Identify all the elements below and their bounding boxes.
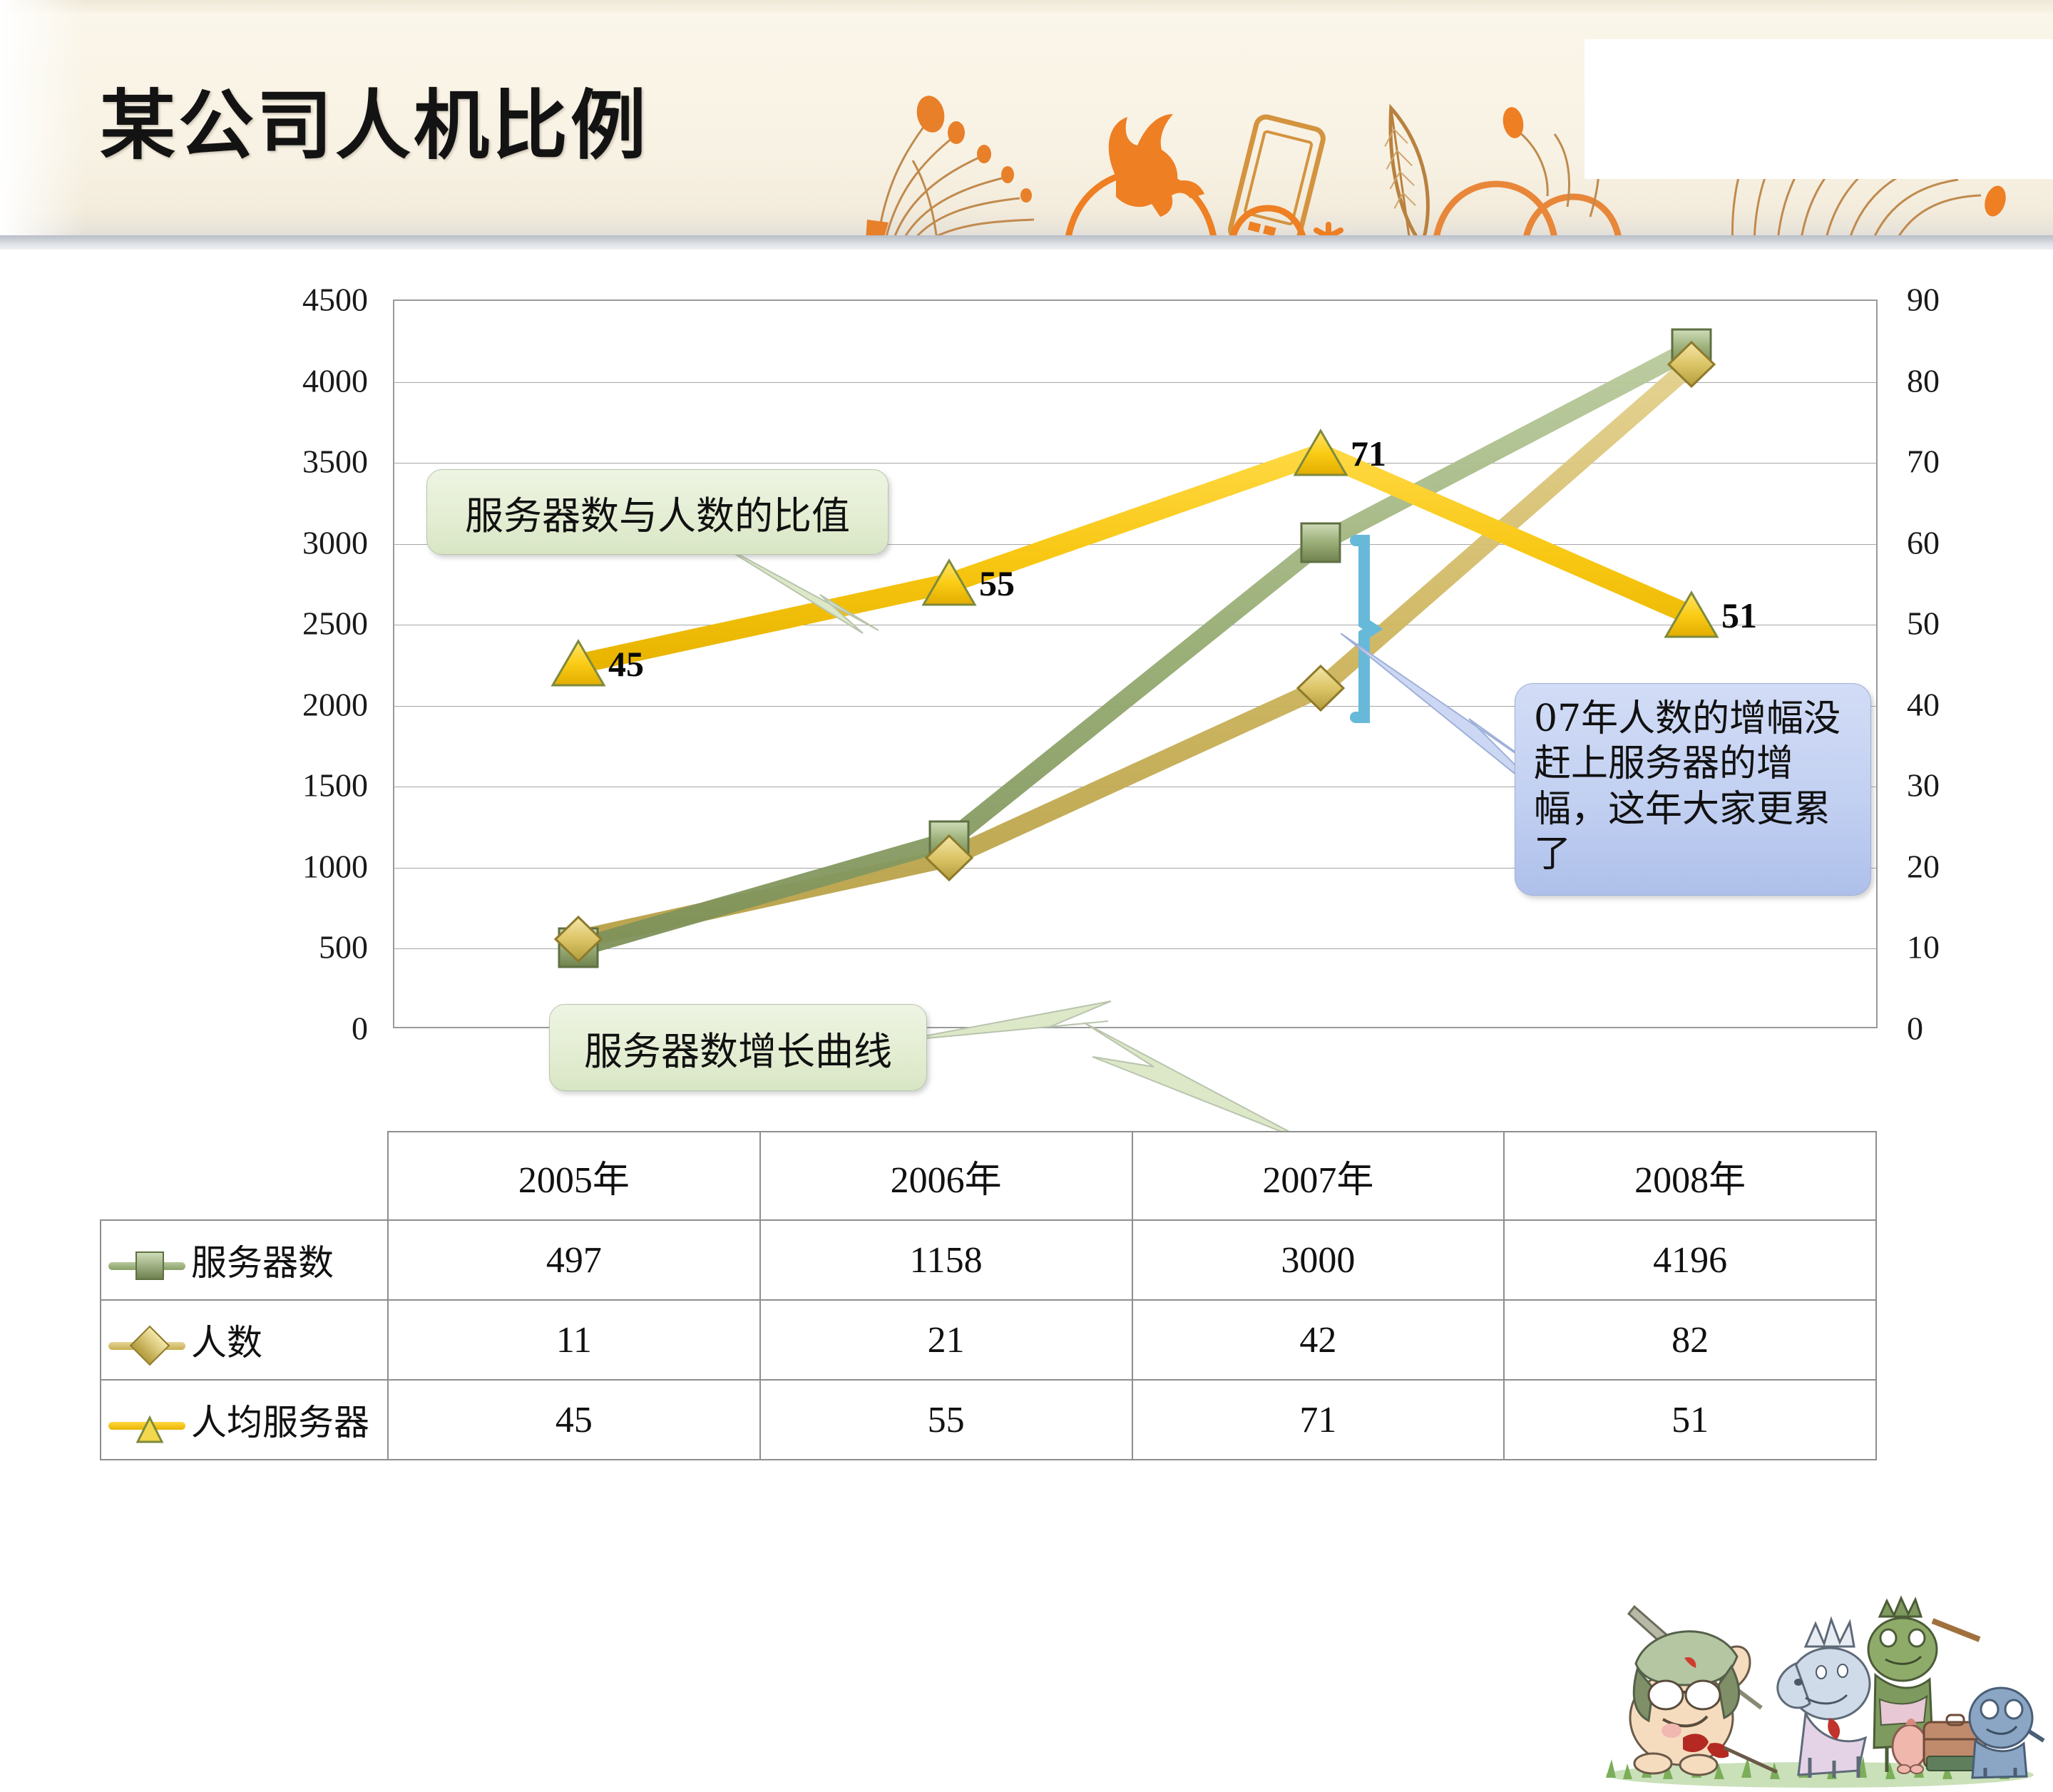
- legend-label-people: 人数: [191, 1322, 262, 1363]
- table-row-ratio: 人均服务器 45 55 71 51: [101, 1380, 1876, 1460]
- table-row-people: 人数 11 21 42 82: [101, 1300, 1876, 1380]
- legend-row-servers: 服务器数: [101, 1220, 388, 1300]
- data-label-ratio-2006: 55: [979, 563, 1015, 604]
- y-left-tick-4000: 4000: [302, 362, 368, 399]
- legend-label-servers: 服务器数: [191, 1242, 334, 1284]
- legend-row-ratio: 人均服务器: [101, 1380, 388, 1460]
- data-label-ratio-2008: 51: [1721, 595, 1757, 636]
- data-table: 2005年 2006年 2007年 2008年 服务器数 497 1158 30…: [100, 1131, 1877, 1460]
- y-left-tick-4500: 4500: [302, 281, 368, 319]
- y-right-tick-90: 90: [1907, 281, 1940, 319]
- page-title: 某公司人机比例: [100, 64, 649, 174]
- table-row-servers: 服务器数 497 1158 3000 4196: [101, 1220, 1876, 1300]
- y-left-tick-1500: 1500: [302, 767, 368, 804]
- y-left-tick-2000: 2000: [302, 685, 368, 723]
- table-header-row: 2005年 2006年 2007年 2008年: [101, 1132, 1876, 1220]
- header-top-strip: [0, 0, 2053, 13]
- y-left-tick-3000: 3000: [302, 523, 368, 561]
- table-col-header-2008: 2008年: [1504, 1132, 1876, 1220]
- legend-marker-square-icon: [108, 1250, 185, 1281]
- data-label-ratio-2005: 45: [608, 643, 644, 685]
- cartoon-characters-illustration: [1592, 1578, 2048, 1792]
- y-right-tick-0: 0: [1907, 1010, 1923, 1048]
- y-left-tick-500: 500: [319, 928, 368, 966]
- y-right-tick-70: 70: [1907, 443, 1940, 481]
- header-bottom-shadow: [0, 235, 2053, 250]
- table-col-header-2006: 2006年: [760, 1132, 1132, 1220]
- chart-root: 0 500 1000 1500 2000 2500 3000 3500 4000…: [0, 255, 2053, 1540]
- y-left-tick-2500: 2500: [302, 605, 368, 642]
- cell-people-2007: 42: [1132, 1300, 1505, 1380]
- y-right-tick-30: 30: [1907, 767, 1940, 804]
- callout-server-curve-text: 服务器数增长曲线: [584, 1020, 892, 1076]
- legend-marker-diamond-icon: [108, 1330, 185, 1361]
- table-col-header-2007: 2007年: [1132, 1132, 1505, 1220]
- cell-people-2005: 11: [388, 1300, 760, 1380]
- cell-people-2006: 21: [760, 1300, 1132, 1380]
- y-right-tick-50: 50: [1907, 605, 1940, 642]
- header-left-fade: [0, 0, 86, 235]
- y-axis-right: 0 10 20 30 40 50 60 70 80 90: [1890, 299, 2032, 1028]
- callout-ratio-text: 服务器数与人数的比值: [465, 484, 850, 541]
- cell-servers-2008: 4196: [1504, 1220, 1876, 1300]
- y-right-tick-80: 80: [1907, 362, 1940, 399]
- callout-ratio: 服务器数与人数的比值: [426, 469, 889, 555]
- cell-servers-2007: 3000: [1132, 1220, 1505, 1300]
- callout-note-07-text: 07年人数的增幅没赶上服务器的增幅，这年大家更累了: [1534, 697, 1840, 876]
- cell-ratio-2008: 51: [1504, 1380, 1876, 1460]
- cell-servers-2005: 497: [388, 1220, 760, 1300]
- cartoon-dog: [1778, 1619, 1870, 1778]
- legend-marker-triangle-icon: [108, 1410, 185, 1441]
- y-right-tick-10: 10: [1907, 928, 1940, 966]
- callout-note-07: 07年人数的增幅没赶上服务器的增幅，这年大家更累了: [1515, 683, 1871, 896]
- y-left-tick-0: 0: [352, 1010, 368, 1048]
- y-left-tick-3500: 3500: [302, 443, 368, 481]
- cell-ratio-2007: 71: [1132, 1380, 1505, 1460]
- y-right-tick-40: 40: [1907, 685, 1940, 723]
- header-banner: 某公司人机比例: [0, 0, 2053, 250]
- y-right-tick-60: 60: [1907, 523, 1940, 561]
- data-label-ratio-2007: 71: [1351, 433, 1386, 474]
- callout-server-curve: 服务器数增长曲线: [549, 1004, 927, 1091]
- y-right-tick-20: 20: [1907, 847, 1940, 885]
- y-axis-left: 0 500 1000 1500 2000 2500 3000 3500 4000…: [214, 299, 385, 1028]
- cartoon-blue-creature: [1970, 1688, 2044, 1778]
- white-overlay-box: [1584, 39, 2053, 179]
- legend-label-ratio: 人均服务器: [191, 1402, 369, 1443]
- y-left-tick-1000: 1000: [302, 847, 368, 885]
- cell-ratio-2005: 45: [388, 1380, 760, 1460]
- cell-servers-2006: 1158: [760, 1220, 1132, 1300]
- cartoon-pig: [1629, 1607, 1777, 1775]
- table-corner-cell: [101, 1132, 388, 1220]
- cell-people-2008: 82: [1504, 1300, 1876, 1380]
- legend-row-people: 人数: [101, 1300, 388, 1380]
- cell-ratio-2006: 55: [760, 1380, 1132, 1460]
- table-col-header-2005: 2005年: [388, 1132, 760, 1220]
